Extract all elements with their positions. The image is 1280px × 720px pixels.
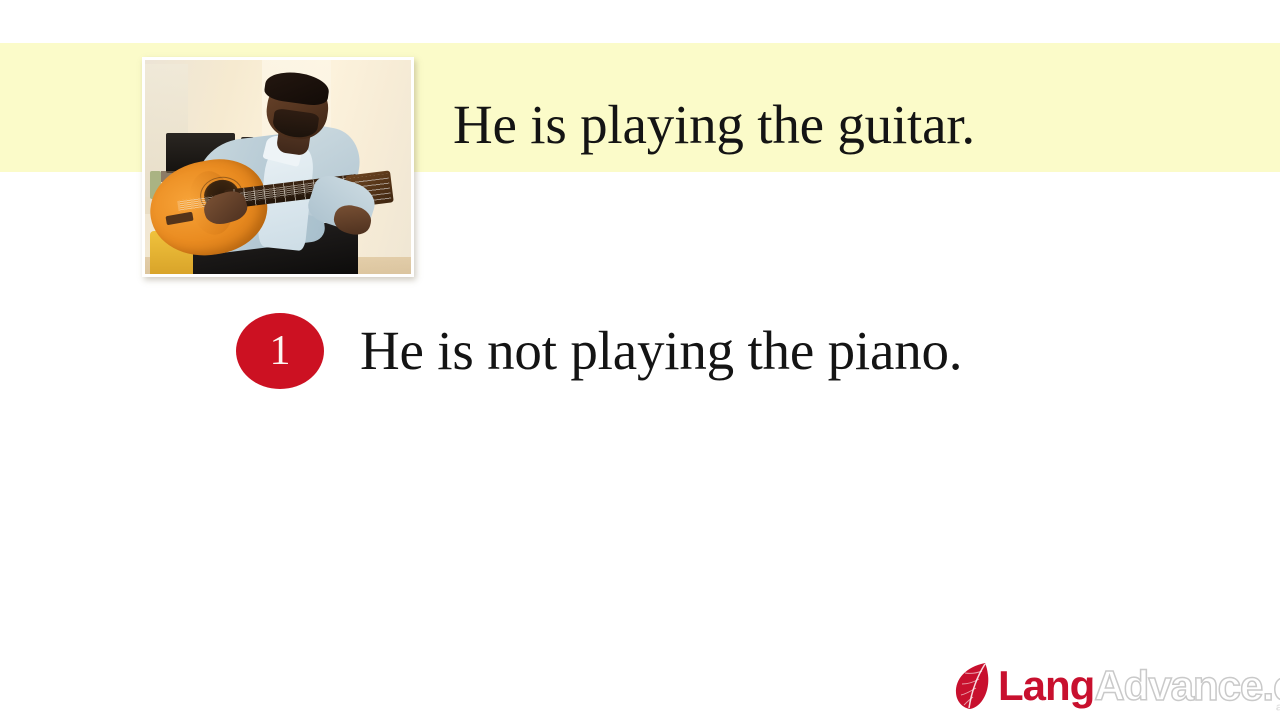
logo-brand-secondary: Advance.com xyxy=(1094,663,1280,709)
logo-subtext: academy xyxy=(1276,700,1280,713)
answer-row: 1 He is not playing the piano. xyxy=(236,313,962,389)
photo-frame xyxy=(145,60,411,274)
guitar-player-photo-card xyxy=(142,57,414,277)
answer-sentence: He is not playing the piano. xyxy=(360,319,962,383)
question-number-badge: 1 xyxy=(236,313,324,389)
leaf-icon xyxy=(952,661,992,711)
logo-brand-primary: Lang xyxy=(998,663,1094,709)
brand-logo[interactable]: LangAdvance.com academy xyxy=(952,657,1280,715)
slide-canvas: He is playing the guitar. 1 He is not pl… xyxy=(0,0,1280,720)
logo-wordmark: LangAdvance.com xyxy=(998,663,1280,709)
prompt-sentence: He is playing the guitar. xyxy=(453,93,975,157)
